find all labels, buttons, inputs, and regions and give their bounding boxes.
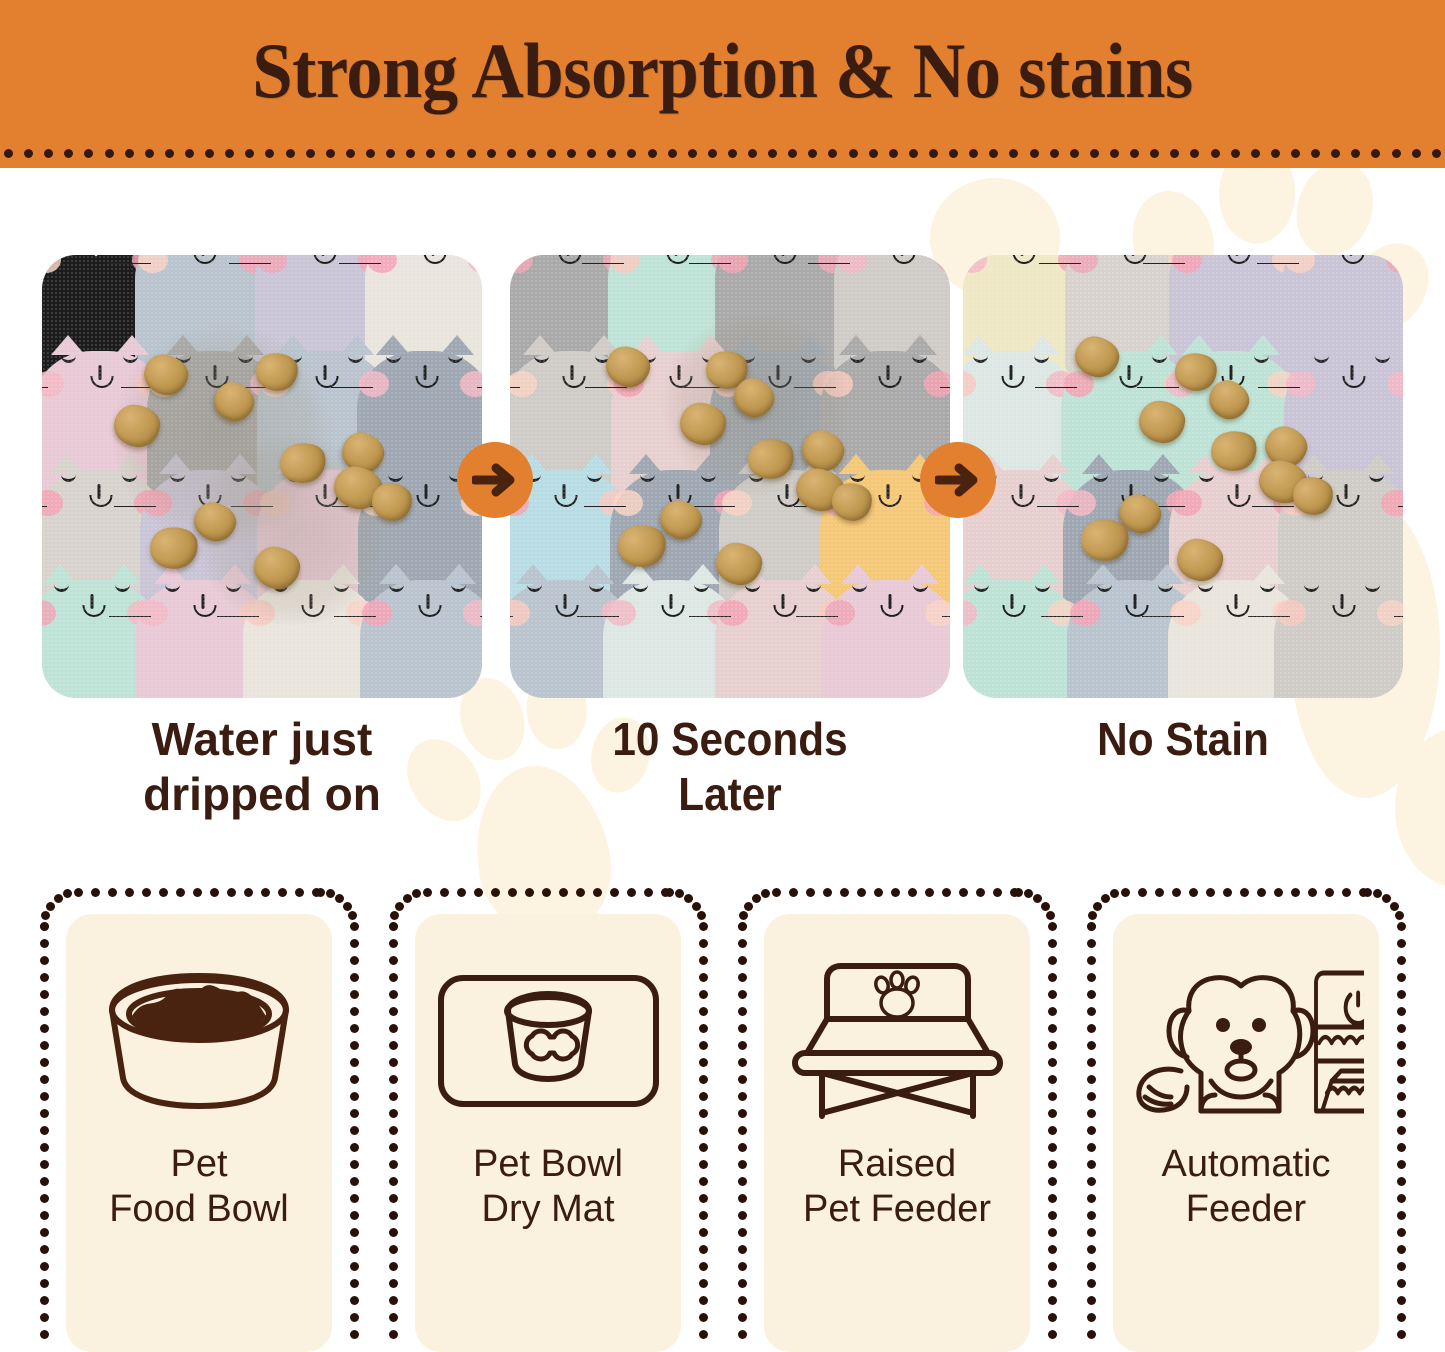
demo-caption-step-2: 10 Seconds Later [528,712,933,822]
label-line: Food Bowl [109,1187,289,1232]
caption-line: No Stain [981,712,1386,767]
arrow-right-icon [457,442,533,518]
label-line: Pet Feeder [803,1187,991,1232]
feature-card-pet-food-bowl[interactable]: Pet Food Bowl [44,892,354,1342]
label-line: Dry Mat [473,1187,623,1232]
feature-card-label: Raised Pet Feeder [803,1142,991,1232]
label-line: Pet Bowl [473,1142,623,1187]
label-line: Feeder [1162,1187,1331,1232]
demo-caption-step-3: No Stain [981,712,1386,767]
header-banner: Strong Absorption & No stains [0,0,1445,168]
feature-card-label: Pet Food Bowl [109,1142,289,1232]
demo-photo-step-3 [963,255,1403,698]
feature-card-raised-pet-feeder[interactable]: Raised Pet Feeder [742,892,1052,1342]
caption-line: 10 Seconds [528,712,933,767]
header-dotted-divider [0,147,1445,159]
page-title: Strong Absorption & No stains [51,26,1395,116]
demo-photo-step-1 [42,255,482,698]
demo-caption-step-1: Water just dripped on [42,712,482,822]
arrow-right-icon [920,442,996,518]
absorption-demo-photos [0,255,1445,705]
raised-pet-feeder-icon [785,946,1010,1136]
feature-card-automatic-feeder[interactable]: Automatic Feeder [1091,892,1401,1342]
label-line: Automatic [1162,1142,1331,1187]
feature-card-label: Pet Bowl Dry Mat [473,1142,623,1232]
caption-line: Water just [42,712,482,767]
feature-card-pet-bowl-dry-mat[interactable]: Pet Bowl Dry Mat [393,892,703,1342]
feature-card-label: Automatic Feeder [1162,1142,1331,1232]
demo-photo-step-2 [510,255,950,698]
demo-captions: Water just dripped on 10 Seconds Later N… [0,712,1445,832]
label-line: Pet [109,1142,289,1187]
caption-line: Later [528,767,933,822]
pet-food-bowl-icon [92,946,307,1136]
feature-cards: Pet Food Bowl Pet Bowl Dry Mat [0,892,1445,1342]
label-line: Raised [803,1142,991,1187]
caption-line: dripped on [42,767,482,822]
pet-bowl-dry-mat-icon [436,946,661,1136]
automatic-feeder-icon [1129,946,1364,1136]
